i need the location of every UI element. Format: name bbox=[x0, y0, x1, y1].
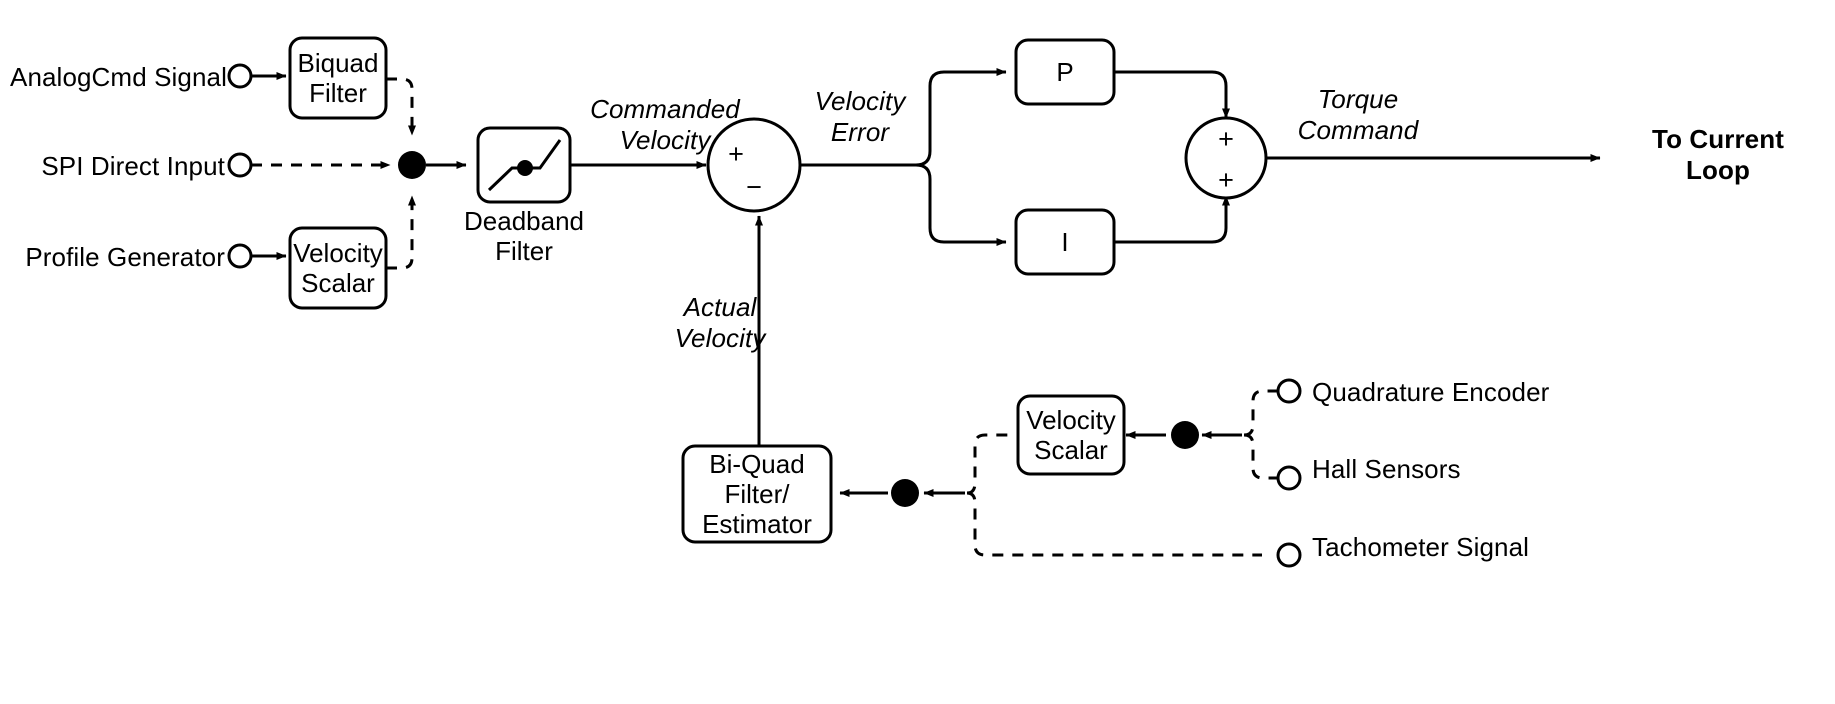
summer1-sign-minus: − bbox=[742, 174, 766, 201]
terminal-analog-cmd bbox=[229, 65, 251, 87]
wire-sensor-bracket-bottom bbox=[1244, 435, 1277, 478]
wire-biquad-to-node bbox=[386, 79, 412, 135]
wire-scalarcmd-to-node bbox=[386, 196, 412, 268]
wire-fb-bracket-top bbox=[967, 435, 1014, 493]
block-label-p-gain: P bbox=[1016, 40, 1114, 104]
wire-fb-bracket-bottom bbox=[967, 493, 1262, 555]
terminal-profile-generator bbox=[229, 245, 251, 267]
sensor-mux-node bbox=[1171, 421, 1199, 449]
wire-sensor-bracket-top bbox=[1244, 391, 1277, 435]
terminal-hall-sensors bbox=[1278, 467, 1300, 489]
input-label-spi-direct: SPI Direct Input bbox=[10, 151, 225, 182]
signal-label-actual-velocity: Actual Velocity bbox=[650, 292, 790, 353]
terminal-spi-direct bbox=[229, 154, 251, 176]
wire-i-to-summer bbox=[1114, 196, 1226, 242]
command-mux-node bbox=[398, 151, 426, 179]
feedback-mux-node bbox=[891, 479, 919, 507]
input-label-profile-generator: Profile Generator bbox=[10, 242, 225, 273]
block-caption-deadband-filter: Deadband Filter bbox=[444, 204, 604, 268]
input-label-analog-cmd: AnalogCmd Signal bbox=[10, 62, 225, 93]
block-label-biquad-estimator: Bi-Quad Filter/ Estimator bbox=[683, 446, 831, 542]
feedback-label-tachometer-signal: Tachometer Signal bbox=[1312, 532, 1712, 563]
wire-error-to-i bbox=[916, 165, 1006, 242]
block-label-velocity-scalar-cmd: Velocity Scalar bbox=[290, 228, 386, 308]
summer2-sign-plus-top: + bbox=[1214, 126, 1238, 153]
block-diagram-canvas: AnalogCmd Signal SPI Direct Input Profil… bbox=[0, 0, 1835, 704]
signal-label-torque-command: Torque Command bbox=[1278, 84, 1438, 145]
signal-label-velocity-error: Velocity Error bbox=[790, 86, 930, 147]
feedback-label-hall-sensors: Hall Sensors bbox=[1312, 454, 1712, 485]
summer2-sign-plus-bottom: + bbox=[1214, 167, 1238, 194]
terminal-quadrature-encoder bbox=[1278, 380, 1300, 402]
block-label-biquad-filter: Biquad Filter bbox=[290, 38, 386, 118]
summer1-sign-plus: + bbox=[724, 141, 748, 168]
block-label-velocity-scalar-fb: Velocity Scalar bbox=[1018, 396, 1124, 474]
block-label-i-gain: I bbox=[1016, 210, 1114, 274]
feedback-label-quadrature-encoder: Quadrature Encoder bbox=[1312, 377, 1712, 408]
output-label-to-current-loop: To Current Loop bbox=[1608, 124, 1828, 185]
deadband-center-dot bbox=[517, 160, 533, 176]
wire-p-to-summer bbox=[1114, 72, 1226, 118]
terminal-tachometer-signal bbox=[1278, 544, 1300, 566]
